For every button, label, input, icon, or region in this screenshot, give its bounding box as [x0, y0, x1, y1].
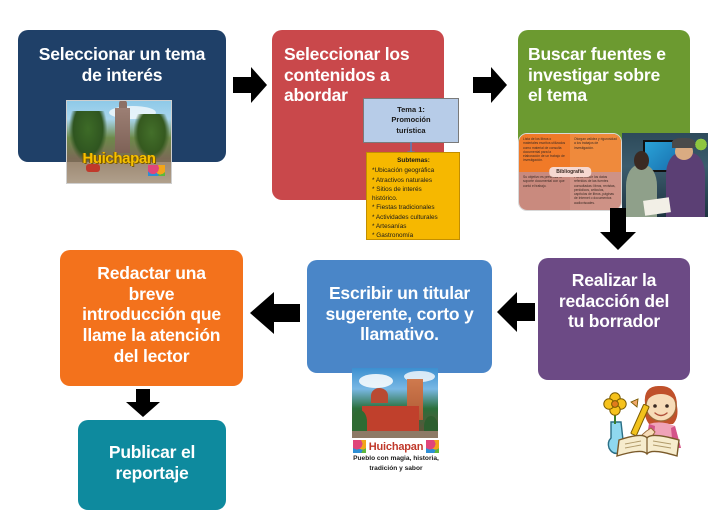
- paper-sheet: [643, 197, 671, 216]
- subtema-item: * Artesanías: [372, 222, 455, 231]
- flow-node-realizar-redaccion[interactable]: Realizar la redacción del tu borrador: [538, 258, 690, 380]
- church-tower: [115, 108, 131, 154]
- flow-node-label: Publicar el reportaje: [84, 442, 220, 483]
- arrow-right-icon-contenidos-to-fuentes: [473, 67, 507, 103]
- open-book-shape: [617, 435, 679, 456]
- brand-row: Huichapan: [337, 440, 455, 453]
- huichapan-plaza-photo: Huichapan: [66, 100, 172, 184]
- pinwheel-icon: [353, 440, 366, 453]
- subtema-item: * Gastronomía: [372, 231, 455, 240]
- flow-node-label: Seleccionar los contenidos a abordar: [284, 44, 432, 106]
- flow-node-publicar-reportaje[interactable]: Publicar el reportaje: [78, 420, 226, 510]
- cloud-shape: [359, 374, 393, 388]
- church-dome: [371, 388, 388, 403]
- flow-node-label: Realizar la redacción del tu borrador: [544, 270, 684, 332]
- bibliografia-center-label: Bibliografía: [549, 167, 591, 177]
- arrow-left-icon-titular-to-redactar: [250, 292, 300, 334]
- flow-node-label: Escribir un titular sugerente, corto y l…: [313, 283, 486, 345]
- pinwheel-icon: [148, 165, 165, 176]
- bibliografia-diagram: Lista de los libros o materiales escrito…: [518, 133, 622, 211]
- subtemas-title: Subtemas:: [372, 156, 455, 165]
- subtema-item: *Ubicación geográfica: [372, 166, 455, 175]
- bibliografia-quadrant: Puede incluir los datos referidos de las…: [570, 172, 621, 210]
- subtema-item: * Atractivos naturales: [372, 176, 455, 185]
- flow-node-label: Redactar una breve introducción que llam…: [66, 263, 237, 366]
- subtema-item: * Sitios de interés: [372, 185, 455, 194]
- subtema-item: * Fiestas tradicionales: [372, 203, 455, 212]
- arrow-right-icon-tema-to-contenidos: [233, 67, 267, 103]
- plaza-ground: [352, 431, 438, 438]
- callout-tema-1-label: Tema 1: Promoción turística: [391, 105, 430, 135]
- pinwheel-icon: [426, 440, 439, 453]
- huichapan-parroquia-photo: [352, 368, 438, 438]
- subtema-item: histórico.: [372, 194, 455, 203]
- plant-shape: [695, 136, 707, 153]
- flow-node-label: Seleccionar un tema de interés: [28, 44, 216, 85]
- girl-writing-clipart: [593, 378, 701, 460]
- brand-tagline: Pueblo con magia, historia, tradición y …: [337, 454, 455, 473]
- arrow-down-icon-redactar-to-publicar: [126, 389, 160, 417]
- bibliografia-quadrant: Su objetivo es presentar el soporte docu…: [519, 172, 570, 210]
- arrow-left-icon-realizar-to-titular: [497, 292, 535, 332]
- huichapan-brand-lockup: Huichapan Pueblo con magia, historia, tr…: [337, 440, 455, 473]
- teacher-figure: [666, 153, 706, 217]
- arrow-down-icon-fuentes-to-realizar: [600, 208, 636, 250]
- flowchart-canvas: Seleccionar un tema de interés Huichapan…: [0, 0, 709, 524]
- flow-node-redactar-introduccion[interactable]: Redactar una breve introducción que llam…: [60, 250, 243, 386]
- students-at-computer-photo: [622, 133, 708, 217]
- flow-node-label: Buscar fuentes e investigar sobre el tem…: [528, 44, 680, 106]
- flow-node-escribir-titular[interactable]: Escribir un titular sugerente, corto y l…: [307, 260, 492, 373]
- callout-tema-1: Tema 1: Promoción turística: [363, 98, 459, 143]
- callout-subtemas: Subtemas: *Ubicación geográfica * Atract…: [366, 152, 460, 240]
- church-facade: [362, 406, 419, 433]
- subtema-item: * Actividades culturales: [372, 213, 455, 222]
- brand-name: Huichapan: [369, 441, 423, 453]
